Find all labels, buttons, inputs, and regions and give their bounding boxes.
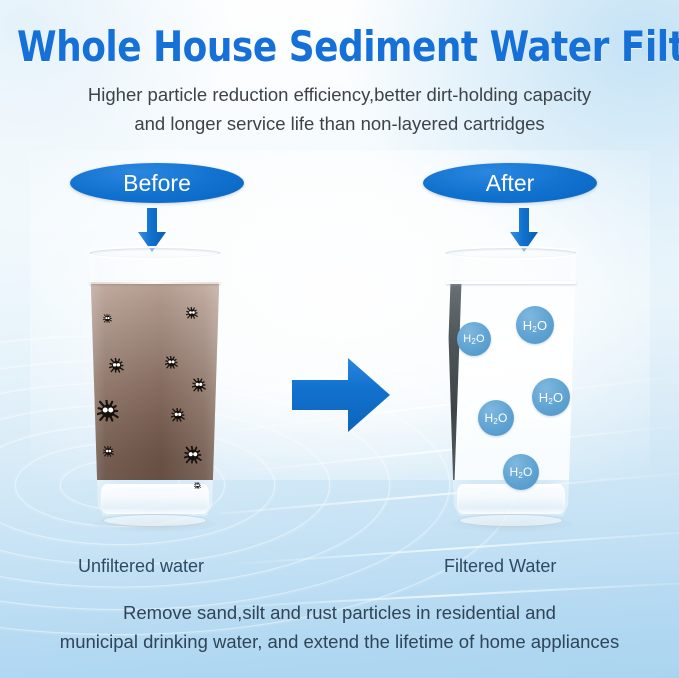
sediment-particle <box>97 400 119 422</box>
badge-after-label: After <box>486 170 535 197</box>
product-infographic: Whole House Sediment Water Filter Higher… <box>0 0 679 678</box>
page-footer: Remove sand,silt and rust particles in r… <box>0 598 679 656</box>
caption-filtered: Filtered Water <box>444 556 556 577</box>
glass-base-edge <box>103 514 207 527</box>
badge-before-label: Before <box>123 170 191 197</box>
h2o-molecule: H2O <box>516 306 554 344</box>
filtered-water-glass: H2OH2OH2OH2OH2O <box>443 248 579 526</box>
sediment-particle <box>186 306 198 318</box>
water-surface-line <box>90 281 220 284</box>
sediment-particle <box>171 408 185 422</box>
h2o-molecule: H2O <box>532 378 570 416</box>
h2o-molecule: H2O <box>503 454 539 490</box>
subtitle-line-2: and longer service life than non-layered… <box>0 109 679 138</box>
footer-line-2: municipal drinking water, and extend the… <box>0 627 679 656</box>
sediment-particle <box>103 444 114 455</box>
footer-line-1: Remove sand,silt and rust particles in r… <box>0 598 679 627</box>
sediment-particle <box>109 358 124 373</box>
glass-base-edge <box>459 514 563 527</box>
h2o-molecule: H2O <box>478 400 514 436</box>
h2o-molecule: H2O <box>457 322 491 356</box>
badge-before: Before <box>70 163 244 203</box>
glass-base <box>101 484 209 514</box>
badge-after: After <box>423 163 597 203</box>
sediment-particle <box>192 378 206 392</box>
sediment-particle <box>194 476 201 483</box>
page-title: Whole House Sediment Water Filter <box>17 22 662 71</box>
glass-rim <box>443 246 579 260</box>
water-surface-line <box>446 281 576 284</box>
sediment-particle <box>184 446 202 464</box>
sediment-particle <box>103 310 112 319</box>
subtitle-line-1: Higher particle reduction efficiency,bet… <box>0 80 679 109</box>
sediment-particle <box>165 356 178 369</box>
page-subtitle: Higher particle reduction efficiency,bet… <box>0 80 679 138</box>
glass-rim <box>87 246 223 260</box>
unfiltered-water-glass <box>87 248 223 526</box>
caption-unfiltered: Unfiltered water <box>78 556 204 577</box>
glass-base <box>457 484 565 514</box>
right-arrow-icon <box>292 358 390 432</box>
